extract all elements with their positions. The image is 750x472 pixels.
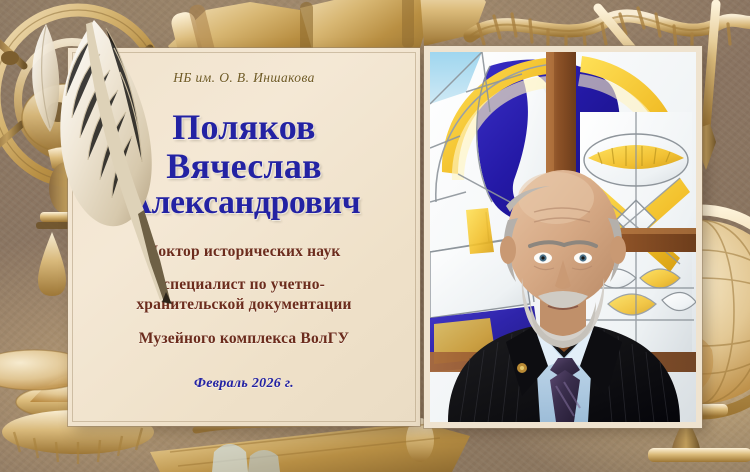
portrait-photo-frame <box>424 46 702 428</box>
department-label: Музейного комплекса ВолГУ <box>139 330 349 348</box>
slide-canvas: НБ им. О. В. Иншакова Поляков Вячеслав А… <box>0 0 750 472</box>
date-label: Февраль 2026 г. <box>194 376 294 392</box>
quill-feather-icon <box>20 14 210 304</box>
portrait-photo <box>430 52 696 422</box>
portrait-illustration <box>430 52 696 422</box>
